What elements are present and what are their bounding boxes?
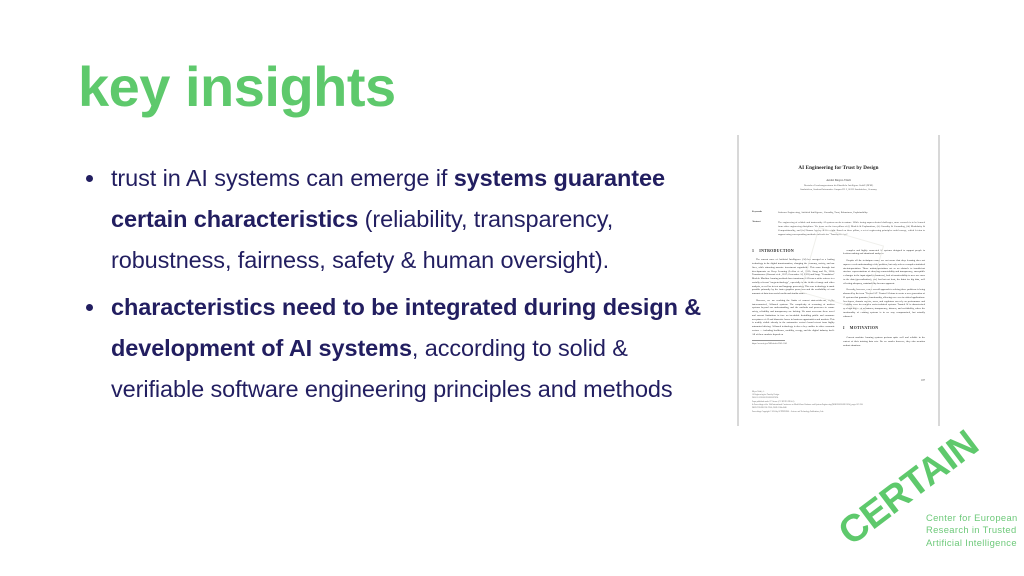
paper-section-title: MOTIVATION bbox=[850, 326, 879, 330]
paper-page-number: 187 bbox=[921, 379, 925, 382]
key-insights-list: trust in AI systems can emerge if system… bbox=[80, 158, 720, 416]
bullet-dot-icon bbox=[86, 175, 93, 182]
paper-section-heading-motivation: 2MOTIVATION bbox=[843, 326, 926, 332]
certain-logo: CERTAIN Center for EuropeanResearch in T… bbox=[838, 470, 1024, 570]
page-title: key insights bbox=[78, 58, 396, 117]
paper-section-title: INTRODUCTION bbox=[759, 249, 794, 253]
paper-paragraph: However, we are reaching the limits of c… bbox=[752, 299, 835, 337]
paper-title: AI Engineering for Trust by Design bbox=[752, 165, 925, 171]
paper-keywords-label: Keywords bbox=[752, 211, 778, 215]
paper-footnote-rule bbox=[752, 340, 785, 341]
paper-author: André Meyer-Vitali bbox=[752, 178, 925, 182]
paper-copyright-block: Meyer-Vitali, A.AI Engineering for Trust… bbox=[752, 391, 925, 414]
paper-paragraph: Current machine learning systems perform… bbox=[843, 336, 926, 347]
paper-page-content: AI Engineering for Trust by Design André… bbox=[752, 135, 925, 426]
list-item: trust in AI systems can emerge if system… bbox=[80, 158, 720, 281]
slide-canvas: key insights trust in AI systems can eme… bbox=[0, 0, 1024, 576]
list-item-text: characteristics need to be integrated du… bbox=[111, 294, 701, 402]
paper-keywords-value: Software Engineering, Artificial Intelli… bbox=[778, 211, 925, 215]
paper-abstract-value: The engineering of reliable and trustwor… bbox=[778, 221, 925, 237]
paper-abstract-label: Abstract bbox=[752, 221, 778, 237]
list-item: characteristics need to be integrated du… bbox=[80, 287, 720, 410]
paper-thumbnail-image: AI Engineering for Trust by Design André… bbox=[737, 135, 940, 426]
bullet-dot-icon bbox=[86, 304, 93, 311]
paper-section-number: 1 bbox=[752, 249, 754, 253]
paper-keywords-row: Keywords Software Engineering, Artificia… bbox=[752, 211, 925, 215]
list-item-text: trust in AI systems can emerge if system… bbox=[111, 165, 665, 273]
paper-affiliation: Deutsches Forschungszentrum für Künstlic… bbox=[752, 184, 925, 191]
paper-footnote: https://www.ai.gov/948/cited-t-2242-1143 bbox=[752, 343, 835, 346]
paper-section-number: 2 bbox=[843, 326, 845, 330]
certain-logo-subtitle: Center for EuropeanResearch in TrustedAr… bbox=[926, 512, 1018, 549]
